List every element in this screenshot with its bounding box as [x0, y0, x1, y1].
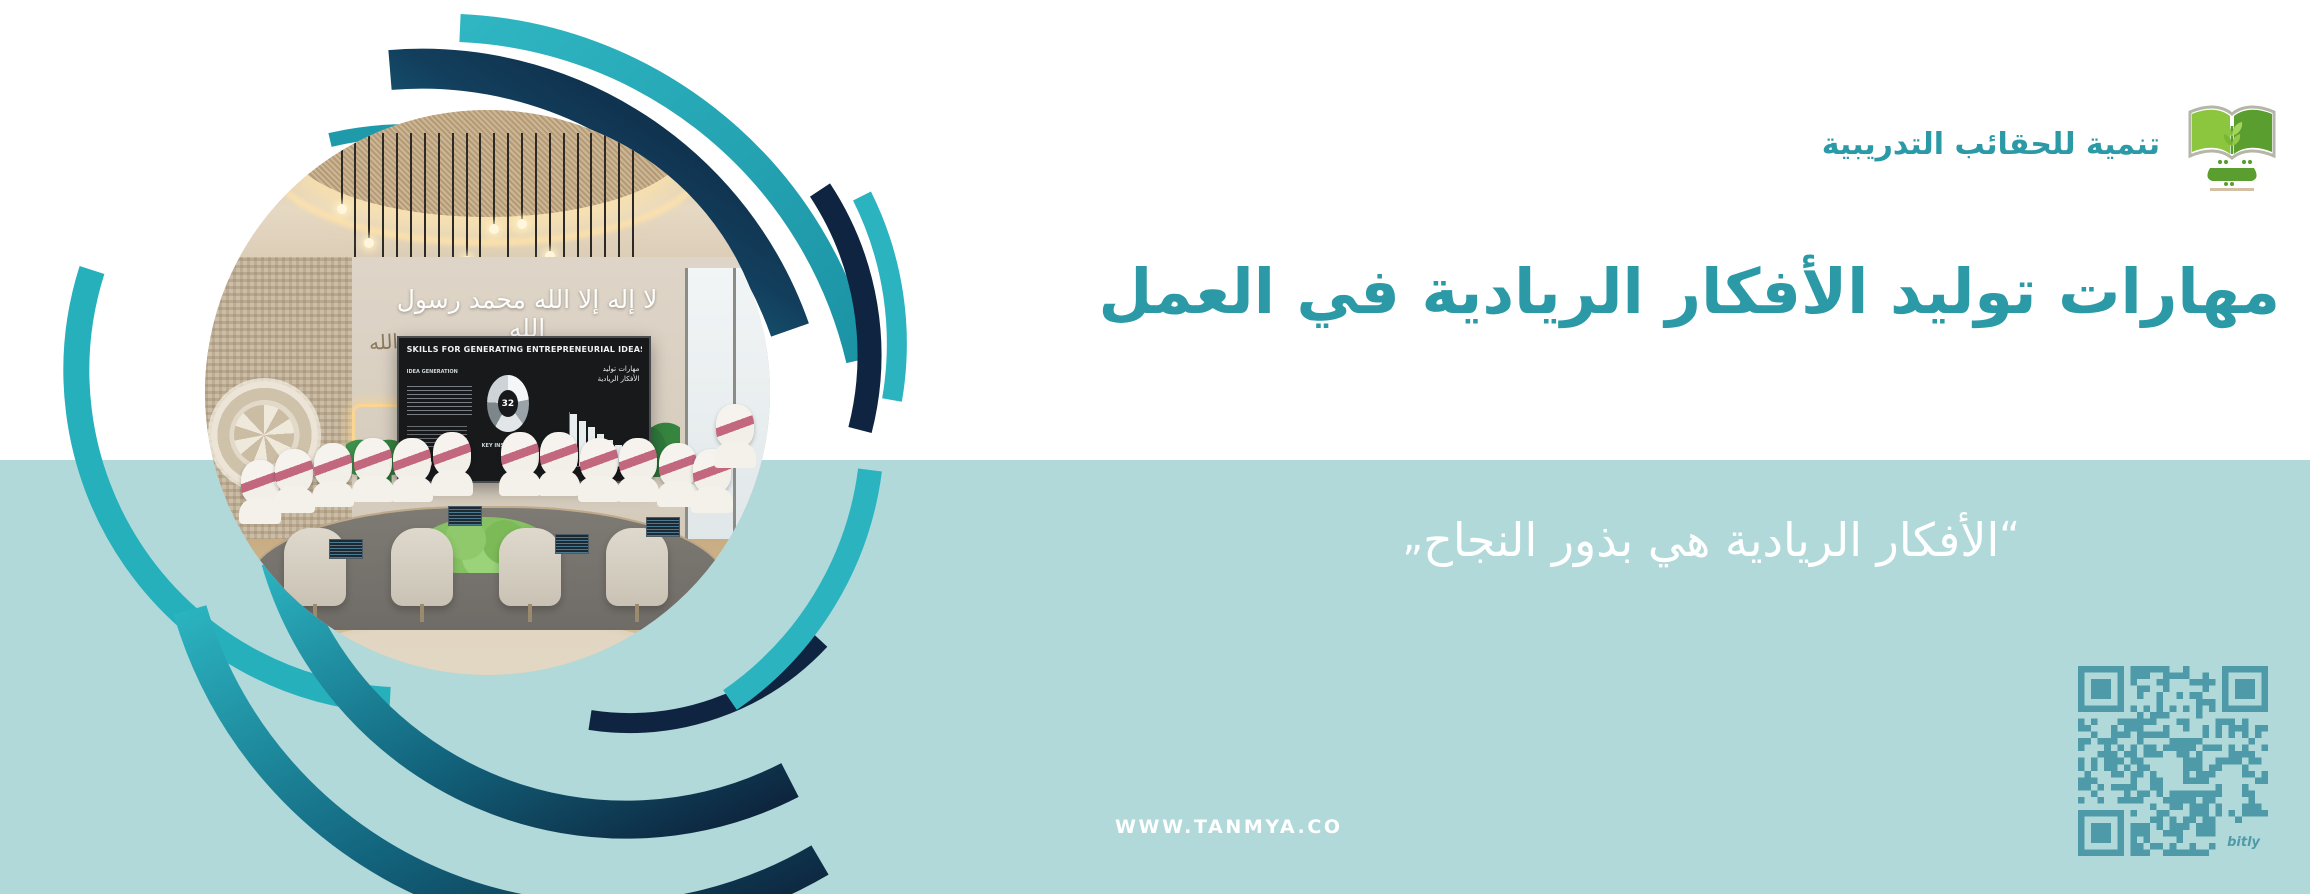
- conference-chair: [606, 528, 668, 606]
- donut-value: 32: [502, 399, 515, 409]
- attendee: [273, 449, 315, 513]
- brand-header: تنمية للحقائب التدريبية: [1822, 92, 2284, 196]
- tanmya-logo-icon: [2180, 92, 2284, 196]
- attendee: [578, 438, 620, 502]
- attendee: [312, 443, 354, 507]
- boardroom-training-session-photo: الله لا إله إلا الله محمد رسول الله SKIL…: [205, 110, 770, 675]
- page-title: مهارات توليد الأفكار الريادية في العمل: [830, 255, 2280, 328]
- conference-chair: [499, 528, 561, 606]
- quote-text: الأفكار الريادية هي بذور النجاح: [1423, 513, 1999, 567]
- qr-code[interactable]: bitly: [2078, 666, 2268, 856]
- conference-chair: [391, 528, 453, 606]
- attendee: [431, 432, 473, 496]
- attendee: [617, 438, 659, 502]
- laptop-icon: [555, 534, 589, 554]
- qr-brand-label: bitly: [2227, 835, 2260, 850]
- website-url[interactable]: WWW.TANMYA.CO: [1115, 816, 1343, 838]
- attendee: [352, 438, 394, 502]
- quote-close-mark: “: [1999, 514, 2020, 560]
- tagline-quote: “الأفكار الريادية هي بذور النجاح„: [790, 512, 2020, 570]
- attendee: [714, 404, 756, 468]
- laptop-icon: [646, 517, 680, 537]
- laptop-icon: [329, 539, 363, 559]
- attendee: [538, 432, 580, 496]
- attendee: [391, 438, 433, 502]
- attendees-group: [205, 110, 770, 675]
- laptop-icon: [448, 506, 482, 526]
- attendee: [499, 432, 541, 496]
- brand-name-label: تنمية للحقائب التدريبية: [1822, 127, 2160, 162]
- promotional-banner: الله لا إله إلا الله محمد رسول الله SKIL…: [0, 0, 2310, 894]
- quote-open-mark: „: [1402, 514, 1423, 560]
